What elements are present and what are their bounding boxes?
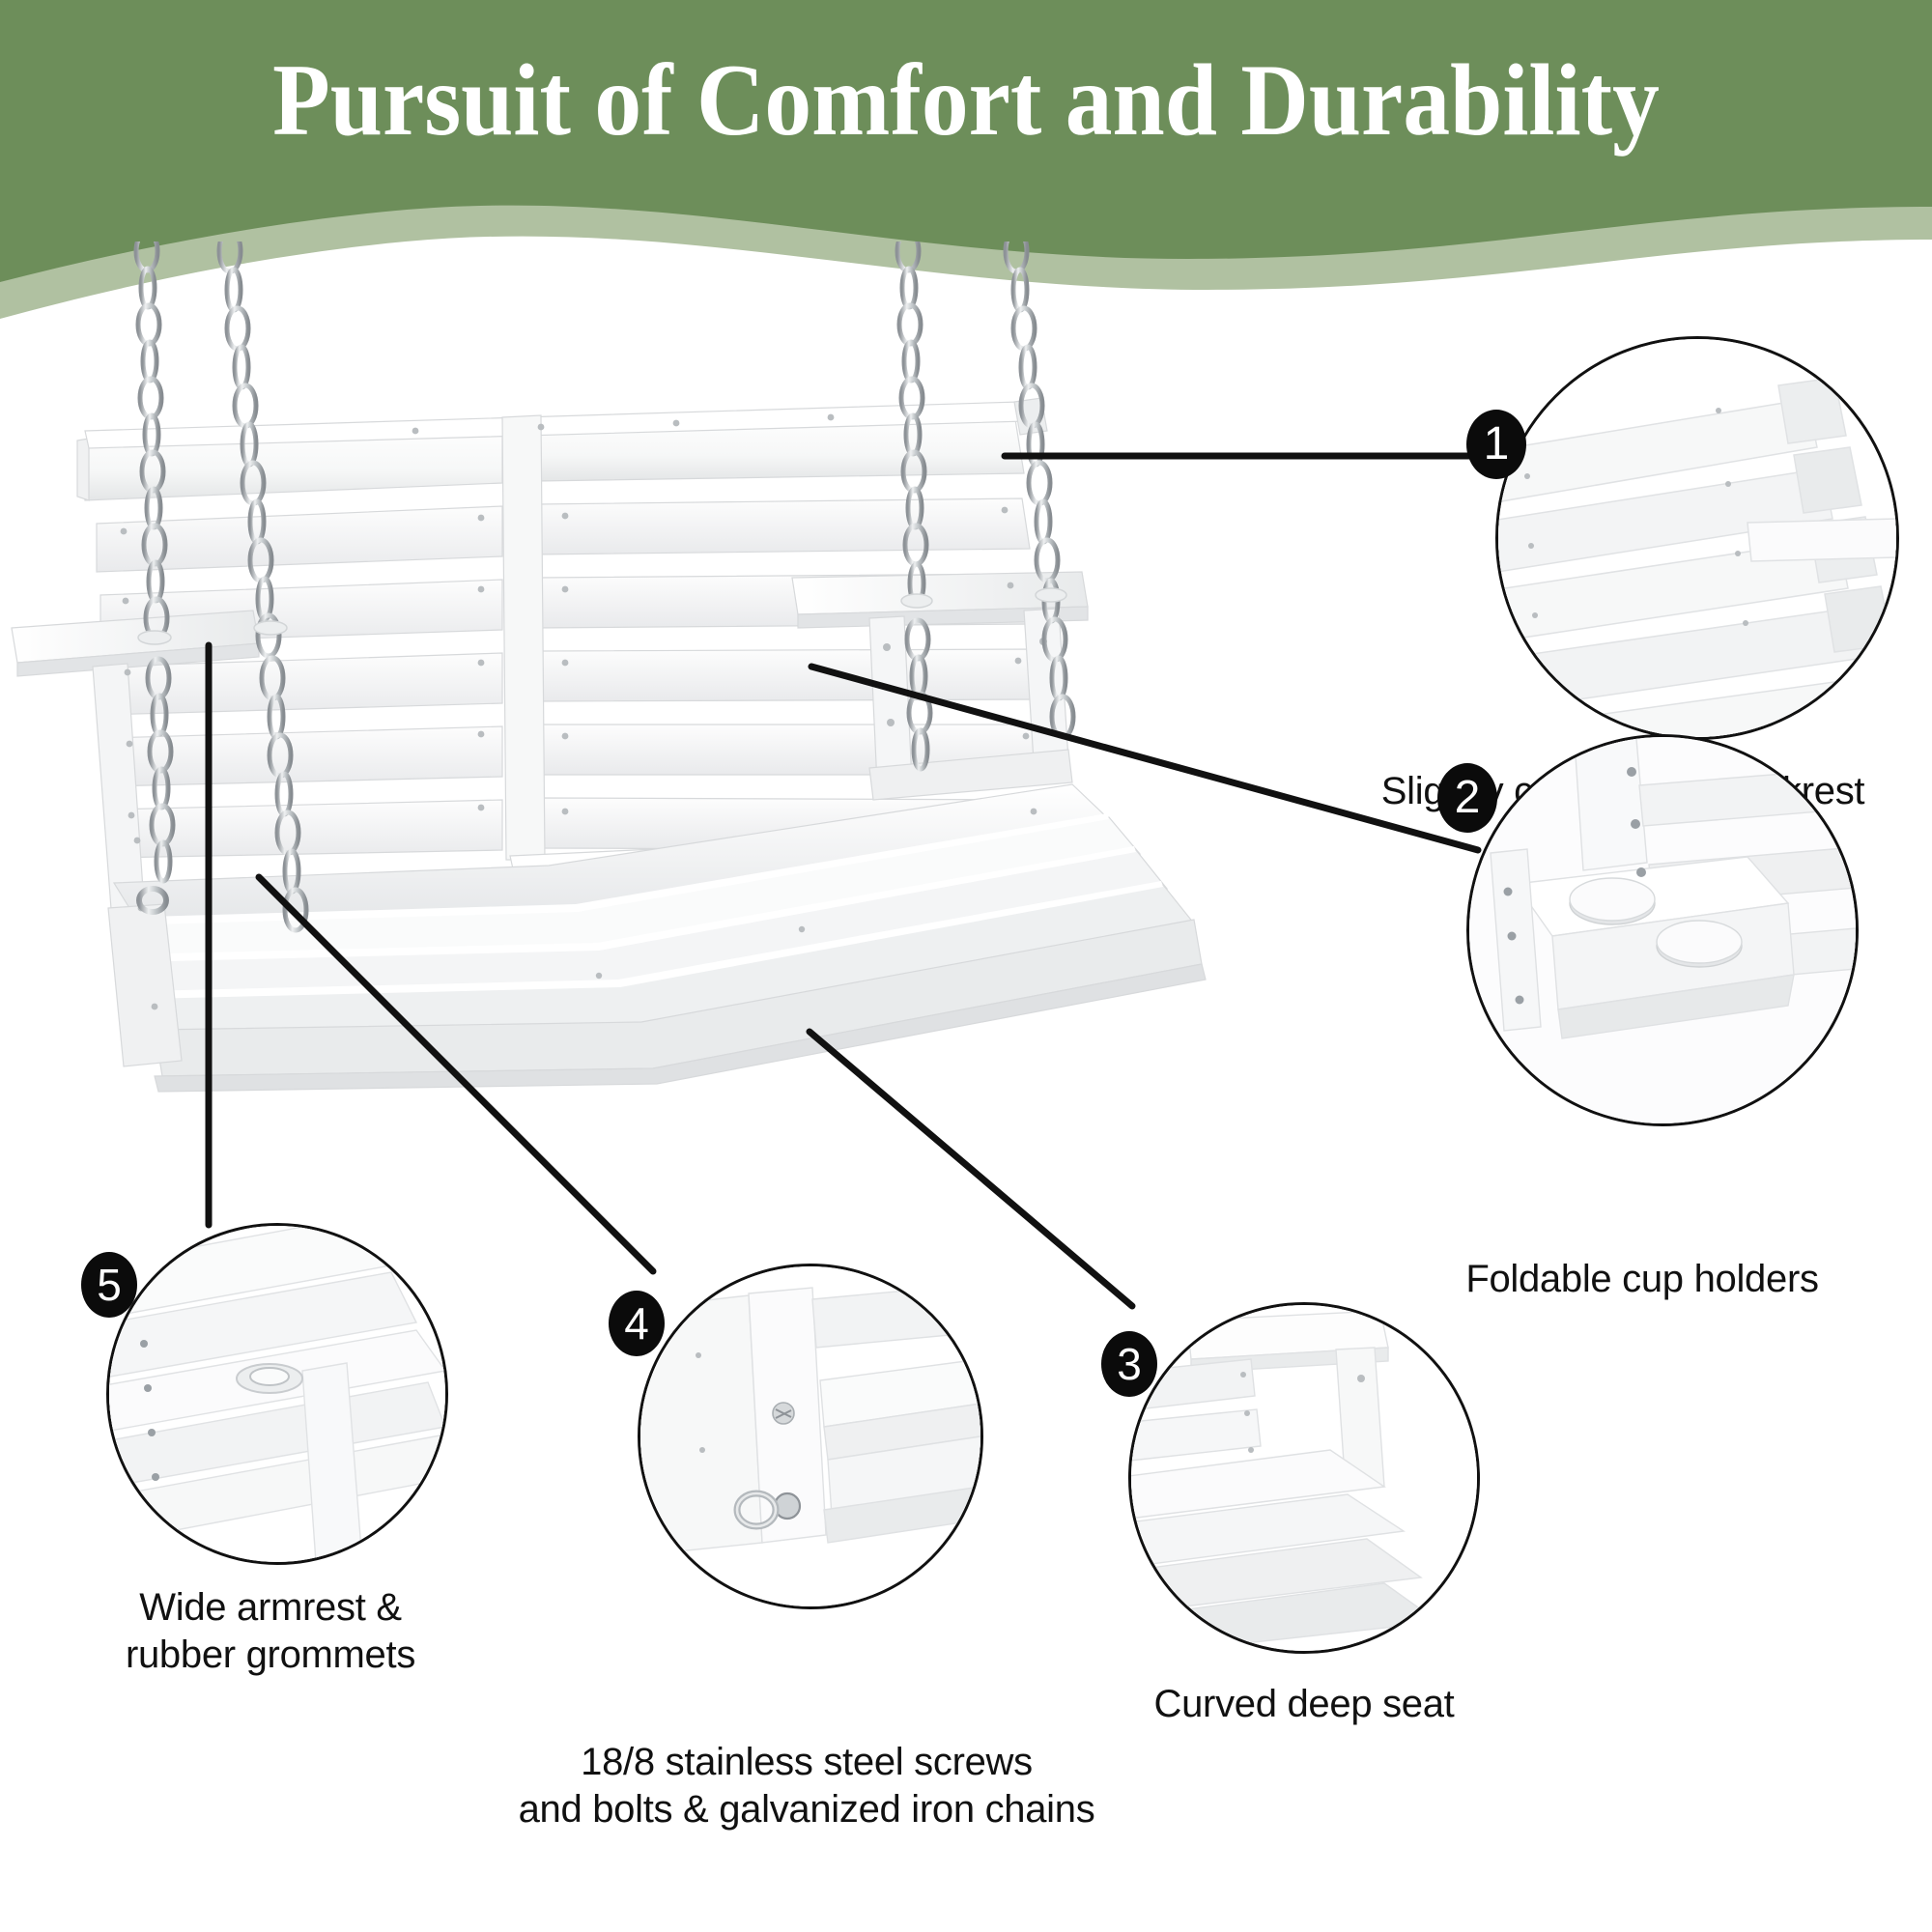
callout-3-caption: Curved deep seat	[1024, 1681, 1584, 1728]
callout-1-badge: 1	[1466, 410, 1526, 479]
callout-1-circle	[1495, 336, 1899, 740]
screw-and-eyebolt-closeup	[640, 1266, 980, 1606]
curved-seat-closeup	[1131, 1305, 1477, 1651]
callout-2-badge: 2	[1437, 763, 1497, 833]
callout-2-caption: Foldable cup holders	[1372, 1256, 1913, 1303]
callout-5-caption: Wide armrest & rubber grommets	[19, 1584, 522, 1679]
callout-4-circle	[638, 1264, 983, 1609]
callout-5-circle	[106, 1223, 448, 1565]
backrest-slats-closeup	[1498, 339, 1896, 737]
porch-swing-graphic	[0, 241, 1372, 1207]
cup-holder-closeup	[1469, 737, 1856, 1123]
armrest-grommet-closeup	[109, 1226, 445, 1562]
callout-3-badge: 3	[1101, 1331, 1157, 1397]
callout-3-circle	[1128, 1302, 1480, 1654]
callout-2-circle	[1466, 734, 1859, 1126]
product-image-porch-swing	[0, 241, 1372, 1207]
callout-4-badge: 4	[609, 1291, 665, 1356]
page-title: Pursuit of Comfort and Durability	[77, 44, 1855, 157]
callout-4-caption: 18/8 stainless steel screws and bolts & …	[319, 1739, 1294, 1833]
callout-5-badge: 5	[81, 1252, 137, 1318]
